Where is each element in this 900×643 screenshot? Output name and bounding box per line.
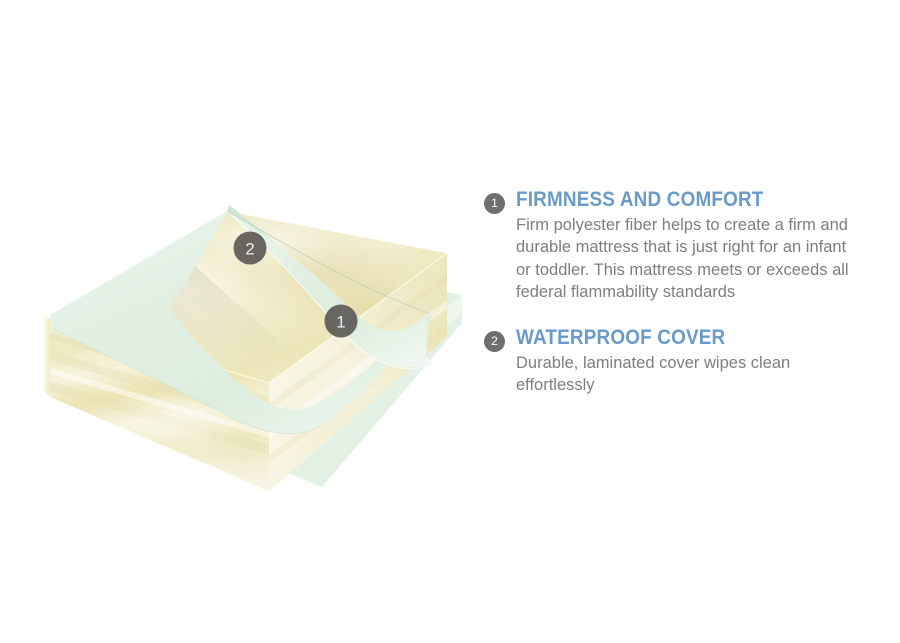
mattress-layer-cutaway-diagram: 2 1 [22,125,472,515]
illustration-callout-2-label: 2 [245,240,254,259]
feature-item-firmness-and-comfort: 1 Firmness and Comfort Firm polyester fi… [484,188,864,304]
feature-1-title: Firmness and Comfort [516,188,829,212]
illustration-callout-1-label: 1 [336,313,345,332]
feature-2-description: Durable, laminated cover wipes clean eff… [516,352,864,397]
feature-1-description: Firm polyester fiber helps to create a f… [516,214,864,304]
illustration-callout-1: 1 [325,305,358,338]
feature-item-waterproof-cover: 2 Waterproof Cover Durable, laminated co… [484,326,864,397]
feature-2-title: Waterproof Cover [516,326,829,350]
product-feature-diagram: 2 1 1 Firmness and Comfort Firm polyeste… [0,0,900,643]
feature-2-number-badge: 2 [484,331,505,352]
illustration-callout-2: 2 [234,232,267,265]
feature-1-number-badge: 1 [484,193,505,214]
feature-list: 1 Firmness and Comfort Firm polyester fi… [484,188,864,397]
